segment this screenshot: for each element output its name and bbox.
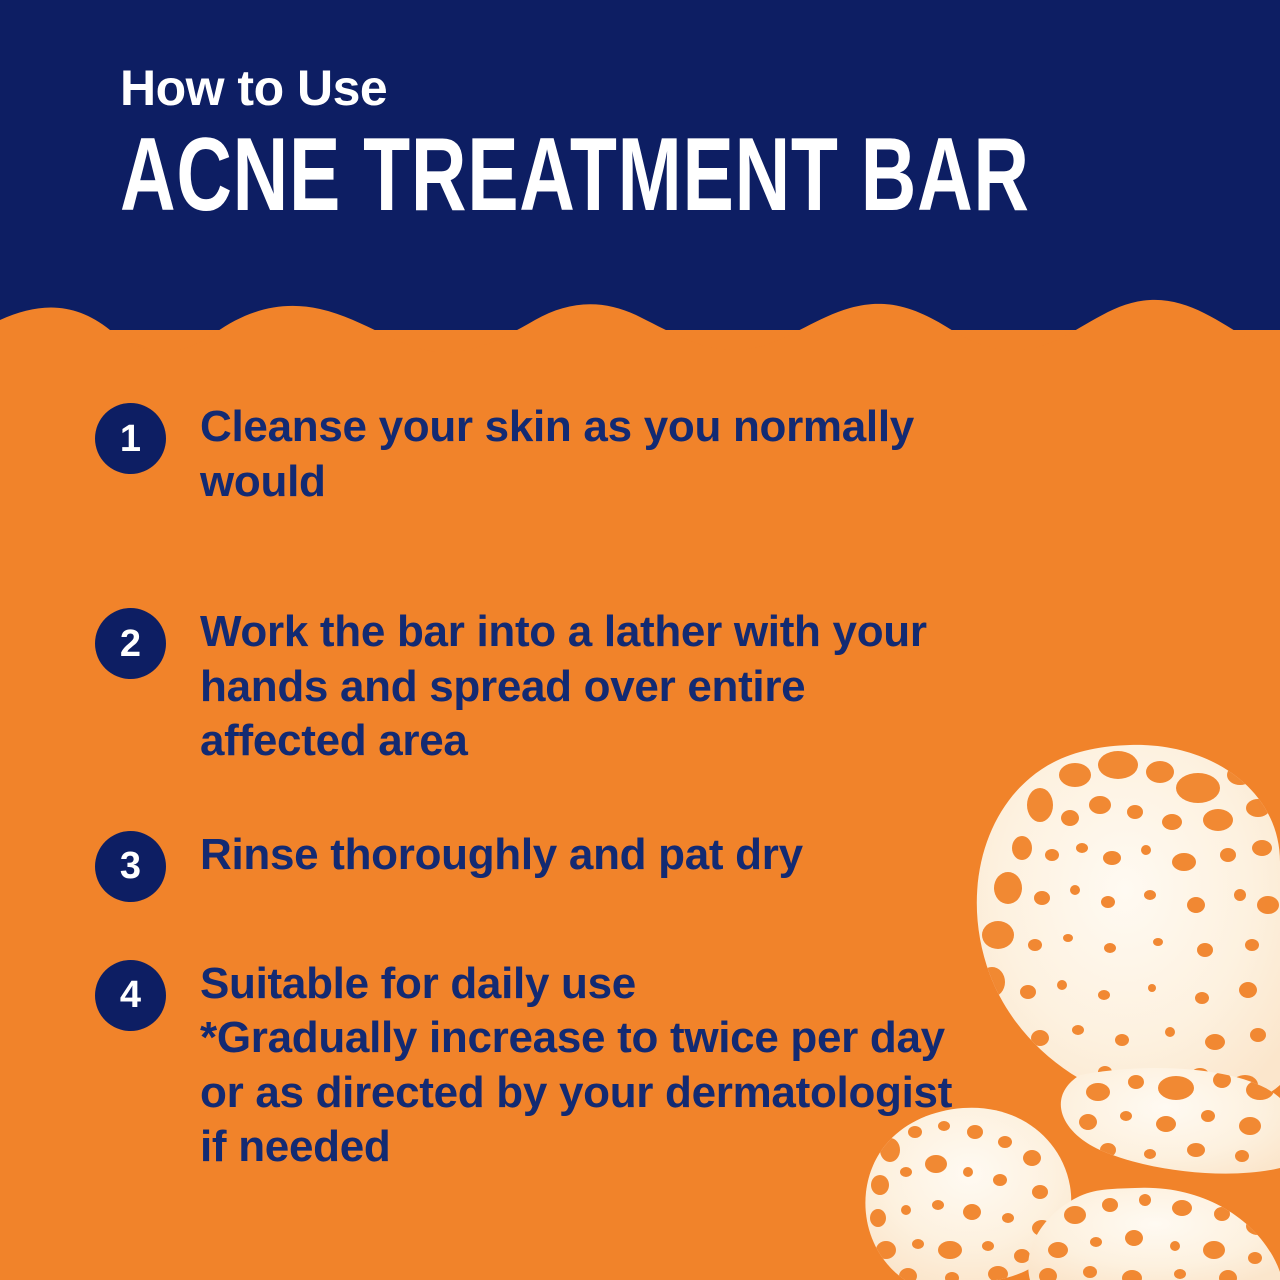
page-title: ACNE TREATMENT BAR (120, 123, 1030, 227)
wavy-divider-icon (0, 295, 1280, 365)
list-item: 2 Work the bar into a lather with your h… (95, 605, 995, 769)
step-text: Rinse thoroughly and pat dry (200, 828, 803, 883)
list-item: 4 Suitable for daily use *Gradually incr… (95, 957, 995, 1175)
step-number-badge: 4 (95, 960, 166, 1031)
steps-list: 1 Cleanse your skin as you normally woul… (95, 400, 995, 1175)
step-text: Work the bar into a lather with your han… (200, 605, 980, 769)
step-main-text: Suitable for daily use (200, 959, 636, 1008)
step-footnote: *Gradually increase to twice per day or … (200, 1011, 980, 1175)
step-text: Suitable for daily use *Gradually increa… (200, 957, 980, 1175)
list-item: 1 Cleanse your skin as you normally woul… (95, 400, 995, 509)
step-main-text: Work the bar into a lather with your han… (200, 607, 927, 765)
instruction-graphic: How to Use ACNE TREATMENT BAR 1 Cleanse … (0, 0, 1280, 1280)
step-main-text: Cleanse your skin as you normally would (200, 402, 914, 506)
eyebrow-label: How to Use (120, 62, 1280, 115)
header-text-group: How to Use ACNE TREATMENT BAR (120, 62, 1280, 227)
list-item: 3 Rinse thoroughly and pat dry (95, 828, 995, 902)
step-number-badge: 3 (95, 831, 166, 902)
step-text: Cleanse your skin as you normally would (200, 400, 980, 509)
step-number-badge: 2 (95, 608, 166, 679)
step-main-text: Rinse thoroughly and pat dry (200, 830, 803, 879)
step-number-badge: 1 (95, 403, 166, 474)
